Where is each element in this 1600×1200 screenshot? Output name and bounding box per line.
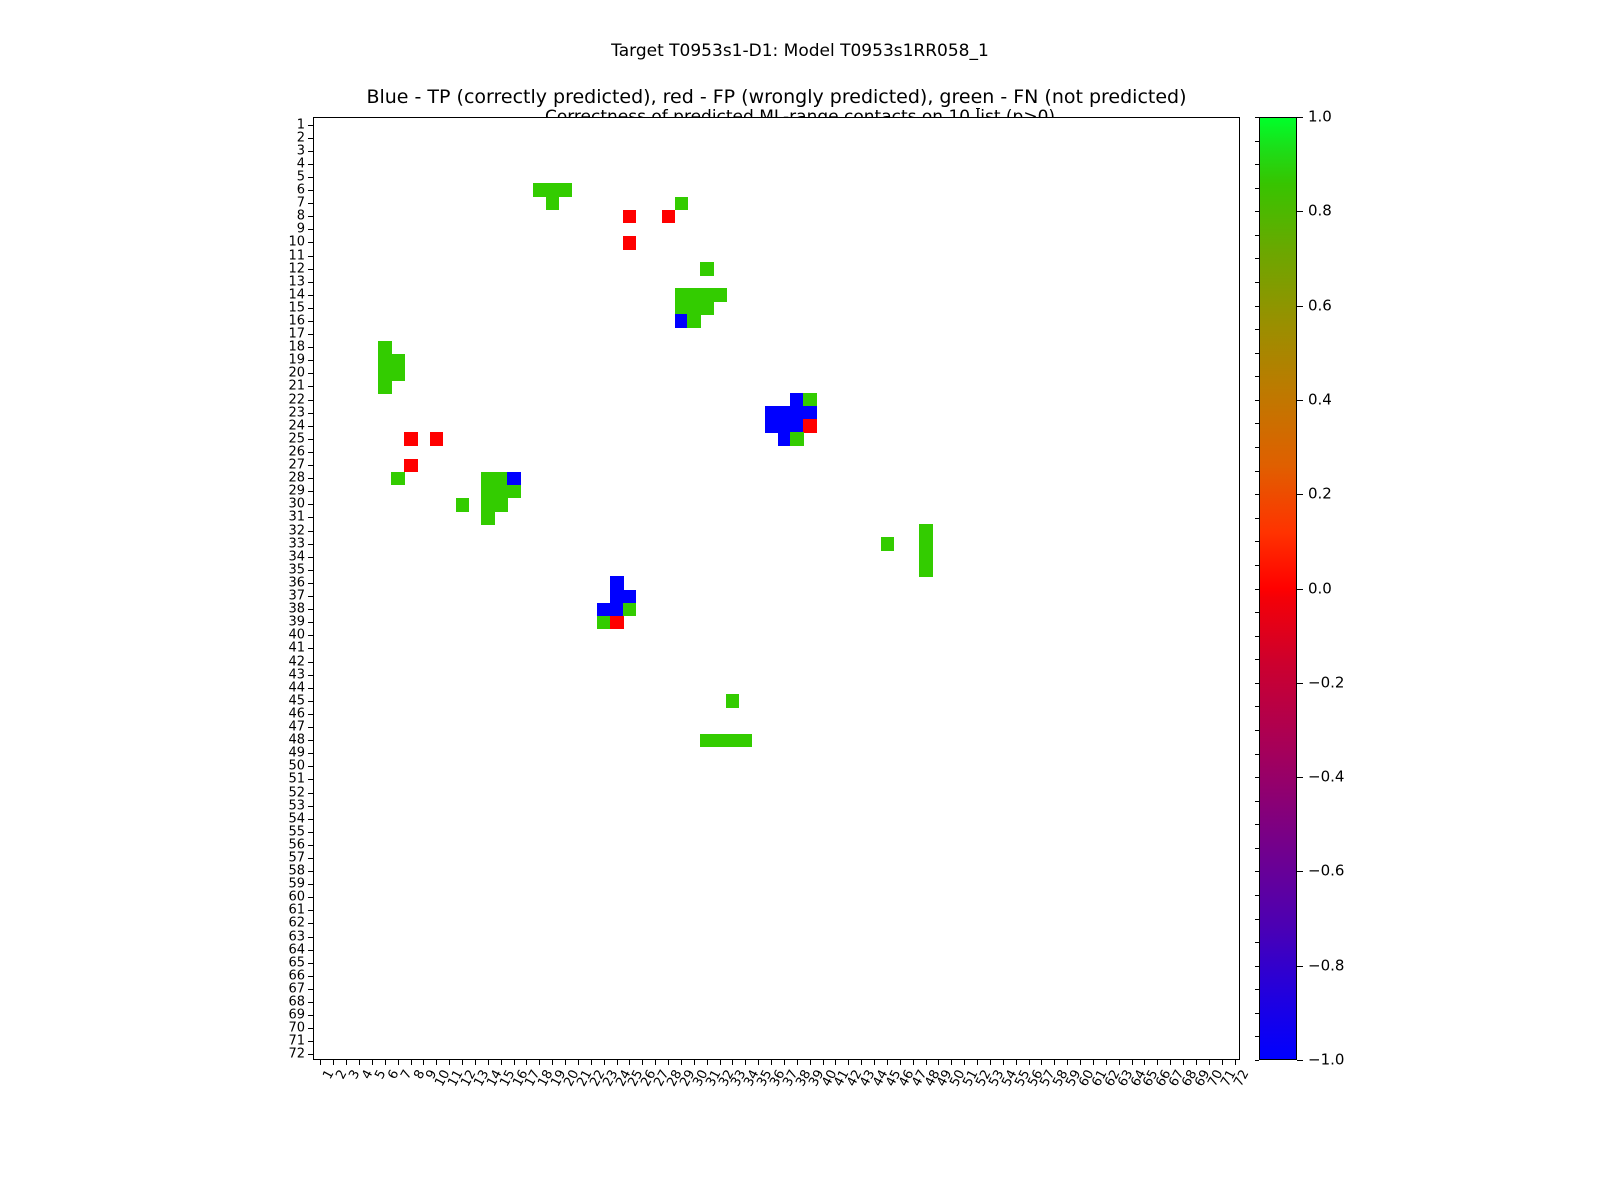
x-tick-mark: [423, 1059, 424, 1065]
colorbar-tick-mark: [1297, 306, 1303, 307]
contact-cell: [778, 432, 791, 446]
x-tick-mark: [951, 1059, 952, 1065]
x-tick-mark: [668, 1059, 669, 1065]
colorbar-minor-tick: [1255, 589, 1259, 590]
colorbar-minor-tick: [1255, 306, 1259, 307]
colorbar-tick-mark: [1297, 966, 1303, 967]
y-tick-label: 27: [288, 459, 305, 472]
contact-cell-layer: [314, 118, 1239, 1059]
colorbar-minor-tick: [1255, 1060, 1259, 1061]
colorbar-tick-mark: [1297, 683, 1303, 684]
colorbar-minor-tick: [1255, 565, 1259, 566]
y-tick-mark: [308, 793, 314, 794]
y-tick-mark: [308, 1054, 314, 1055]
y-tick-label: 36: [288, 576, 305, 589]
contact-cell: [919, 563, 932, 577]
x-tick-mark: [1119, 1059, 1120, 1065]
contact-cell: [765, 406, 778, 420]
y-tick-label: 32: [288, 524, 305, 537]
y-tick-mark: [308, 648, 314, 649]
y-tick-mark: [308, 295, 314, 296]
y-tick-mark: [308, 766, 314, 767]
contact-cell: [881, 537, 894, 551]
colorbar-minor-tick: [1255, 188, 1259, 189]
y-tick-label: 14: [288, 288, 305, 301]
y-tick-label: 18: [288, 341, 305, 354]
x-tick-mark: [694, 1059, 695, 1065]
y-tick-label: 26: [288, 445, 305, 458]
y-tick-label: 68: [288, 996, 305, 1009]
contact-cell: [456, 498, 469, 512]
colorbar-tick-mark: [1297, 494, 1303, 495]
y-tick-label: 55: [288, 825, 305, 838]
colorbar-minor-tick: [1255, 683, 1259, 684]
contact-cell: [919, 537, 932, 551]
y-tick-mark: [308, 779, 314, 780]
y-tick-label: 49: [288, 747, 305, 760]
y-tick-mark: [308, 923, 314, 924]
contact-cell: [739, 734, 752, 748]
y-tick-mark: [308, 269, 314, 270]
contact-cell: [559, 183, 572, 197]
x-tick-mark: [372, 1059, 373, 1065]
colorbar-tick-label: 1.0: [1308, 110, 1332, 125]
x-tick-mark: [720, 1059, 721, 1065]
contact-cell: [507, 472, 520, 486]
colorbar-minor-tick: [1255, 423, 1259, 424]
contact-cell: [597, 616, 610, 630]
y-tick-label: 57: [288, 851, 305, 864]
y-tick-label: 4: [297, 157, 305, 170]
contact-cell: [610, 603, 623, 617]
y-tick-label: 56: [288, 838, 305, 851]
x-tick-mark: [591, 1059, 592, 1065]
x-tick-mark: [732, 1059, 733, 1065]
x-tick-mark: [1132, 1059, 1133, 1065]
colorbar-minor-tick: [1255, 235, 1259, 236]
y-tick-mark: [308, 1015, 314, 1016]
y-tick-label: 35: [288, 563, 305, 576]
x-tick-mark: [514, 1059, 515, 1065]
x-tick-mark: [333, 1059, 334, 1065]
colorbar-minor-tick: [1255, 1013, 1259, 1014]
colorbar-minor-tick: [1255, 659, 1259, 660]
y-tick-mark: [308, 1002, 314, 1003]
y-tick-mark: [308, 675, 314, 676]
y-tick-label: 60: [288, 891, 305, 904]
contact-cell: [713, 734, 726, 748]
y-tick-label: 11: [288, 249, 305, 262]
y-tick-mark: [308, 504, 314, 505]
colorbar-tick-mark: [1297, 589, 1303, 590]
y-tick-label: 46: [288, 707, 305, 720]
contact-cell: [378, 380, 391, 394]
y-tick-mark: [308, 321, 314, 322]
x-tick-mark: [1093, 1059, 1094, 1065]
y-tick-mark: [308, 347, 314, 348]
x-tick-mark: [552, 1059, 553, 1065]
x-tick-mark: [758, 1059, 759, 1065]
x-tick-mark: [501, 1059, 502, 1065]
y-tick-label: 62: [288, 917, 305, 930]
y-tick-label: 24: [288, 419, 305, 432]
y-tick-mark: [308, 583, 314, 584]
contact-cell: [610, 616, 623, 630]
y-tick-mark: [308, 229, 314, 230]
colorbar-minor-tick: [1255, 376, 1259, 377]
y-tick-mark: [308, 242, 314, 243]
x-tick-mark: [488, 1059, 489, 1065]
x-tick-mark: [823, 1059, 824, 1065]
y-tick-mark: [308, 334, 314, 335]
contact-cell: [803, 419, 816, 433]
contact-cell: [597, 603, 610, 617]
y-tick-mark: [308, 701, 314, 702]
y-tick-mark: [308, 989, 314, 990]
contact-map-plot[interactable]: 1234567891011121314151617181920212223242…: [313, 117, 1240, 1060]
x-tick-mark: [900, 1059, 901, 1065]
y-tick-label: 3: [297, 144, 305, 157]
y-tick-label: 10: [288, 236, 305, 249]
y-tick-label: 33: [288, 537, 305, 550]
colorbar-minor-tick: [1255, 282, 1259, 283]
y-tick-mark: [308, 937, 314, 938]
x-tick-mark: [1235, 1059, 1236, 1065]
y-tick-label: 2: [297, 131, 305, 144]
colorbar-tick-label: −0.4: [1308, 770, 1344, 785]
y-tick-mark: [308, 871, 314, 872]
y-tick-mark: [308, 963, 314, 964]
colorbar-tick-label: 0.2: [1308, 487, 1332, 502]
x-tick-mark: [848, 1059, 849, 1065]
x-tick-mark: [681, 1059, 682, 1065]
y-tick-label: 6: [297, 184, 305, 197]
colorbar-minor-tick: [1255, 141, 1259, 142]
y-tick-mark: [308, 216, 314, 217]
x-tick-mark: [926, 1059, 927, 1065]
contact-cell: [687, 314, 700, 328]
x-tick-mark: [1183, 1059, 1184, 1065]
y-tick-mark: [308, 662, 314, 663]
colorbar-tick-label: 0.6: [1308, 298, 1332, 313]
colorbar-minor-tick: [1255, 117, 1259, 118]
x-tick-mark: [604, 1059, 605, 1065]
y-tick-mark: [308, 203, 314, 204]
x-tick-mark: [629, 1059, 630, 1065]
x-tick-mark: [436, 1059, 437, 1065]
x-tick-mark: [655, 1059, 656, 1065]
colorbar-minor-tick: [1255, 895, 1259, 896]
colorbar-tick-label: 0.0: [1308, 581, 1332, 596]
x-tick-mark: [539, 1059, 540, 1065]
x-tick-mark: [1067, 1059, 1068, 1065]
suptitle-line-1: Target T0953s1-D1: Model T0953s1RR058_1: [611, 41, 989, 61]
colorbar-tick-mark: [1297, 117, 1303, 118]
y-tick-label: 1: [297, 118, 305, 131]
y-tick-mark: [308, 1028, 314, 1029]
y-tick-label: 15: [288, 301, 305, 314]
x-tick-mark: [707, 1059, 708, 1065]
y-tick-label: 30: [288, 498, 305, 511]
y-tick-label: 69: [288, 1009, 305, 1022]
colorbar-minor-tick: [1255, 801, 1259, 802]
y-tick-label: 37: [288, 590, 305, 603]
y-tick-label: 19: [288, 354, 305, 367]
y-tick-label: 8: [297, 210, 305, 223]
y-tick-label: 17: [288, 328, 305, 341]
contact-cell: [726, 694, 739, 708]
y-tick-label: 13: [288, 275, 305, 288]
contact-cell: [700, 262, 713, 276]
colorbar-tick-label: 0.4: [1308, 392, 1332, 407]
contact-cell: [765, 419, 778, 433]
contact-cell: [790, 419, 803, 433]
contact-cell: [623, 603, 636, 617]
contact-cell: [610, 590, 623, 604]
y-tick-label: 70: [288, 1022, 305, 1035]
colorbar-minor-tick: [1255, 329, 1259, 330]
colorbar-tick-mark: [1297, 871, 1303, 872]
colorbar-minor-tick: [1255, 447, 1259, 448]
y-tick-mark: [308, 282, 314, 283]
colorbar-minor-tick: [1255, 258, 1259, 259]
contact-cell: [790, 393, 803, 407]
x-tick-mark: [617, 1059, 618, 1065]
colorbar-gradient: [1259, 117, 1297, 1060]
colorbar-minor-tick: [1255, 211, 1259, 212]
y-tick-label: 34: [288, 550, 305, 563]
x-tick-mark: [449, 1059, 450, 1065]
x-tick-mark: [462, 1059, 463, 1065]
y-tick-label: 29: [288, 485, 305, 498]
colorbar-tick-label: −0.8: [1308, 958, 1344, 973]
y-tick-mark: [308, 950, 314, 951]
x-tick-mark: [887, 1059, 888, 1065]
y-tick-label: 48: [288, 734, 305, 747]
contact-cell: [713, 288, 726, 302]
y-tick-mark: [308, 544, 314, 545]
y-tick-mark: [308, 360, 314, 361]
contact-cell: [790, 432, 803, 446]
y-tick-label: 28: [288, 472, 305, 485]
y-tick-mark: [308, 557, 314, 558]
contact-cell: [790, 406, 803, 420]
x-tick-mark: [1222, 1059, 1223, 1065]
colorbar-tick-label: −1.0: [1308, 1053, 1344, 1068]
y-tick-label: 50: [288, 760, 305, 773]
y-tick-mark: [308, 819, 314, 820]
colorbar-minor-tick: [1255, 706, 1259, 707]
y-tick-mark: [308, 439, 314, 440]
colorbar-tick-label: −0.2: [1308, 675, 1344, 690]
y-tick-mark: [308, 596, 314, 597]
contact-cell: [546, 197, 559, 211]
colorbar-minor-tick: [1255, 1036, 1259, 1037]
x-tick-mark: [810, 1059, 811, 1065]
y-tick-label: 9: [297, 223, 305, 236]
y-tick-mark: [308, 177, 314, 178]
colorbar-tick-mark: [1297, 777, 1303, 778]
x-tick-mark: [398, 1059, 399, 1065]
colorbar-minor-tick: [1255, 942, 1259, 943]
y-tick-label: 65: [288, 956, 305, 969]
contact-cell: [662, 210, 675, 224]
y-tick-mark: [308, 1041, 314, 1042]
x-tick-mark: [578, 1059, 579, 1065]
contact-cell: [623, 236, 636, 250]
colorbar-tick-label: −0.6: [1308, 864, 1344, 879]
contact-cell: [430, 432, 443, 446]
colorbar-minor-tick: [1255, 400, 1259, 401]
y-tick-mark: [308, 740, 314, 741]
contact-cell: [546, 183, 559, 197]
contact-cell: [378, 354, 391, 368]
x-tick-mark: [1209, 1059, 1210, 1065]
y-tick-label: 42: [288, 655, 305, 668]
y-tick-label: 61: [288, 904, 305, 917]
y-tick-label: 43: [288, 668, 305, 681]
x-tick-mark: [784, 1059, 785, 1065]
contact-cell: [919, 524, 932, 538]
contact-cell: [494, 485, 507, 499]
x-tick-mark: [1041, 1059, 1042, 1065]
y-tick-mark: [308, 373, 314, 374]
colorbar-minor-tick: [1255, 518, 1259, 519]
contact-cell: [507, 485, 520, 499]
x-tick-mark: [835, 1059, 836, 1065]
x-tick-mark: [359, 1059, 360, 1065]
contact-cell: [675, 197, 688, 211]
contact-cell: [687, 301, 700, 315]
y-tick-mark: [308, 845, 314, 846]
contact-cell: [675, 314, 688, 328]
x-tick-mark: [1106, 1059, 1107, 1065]
colorbar-minor-tick: [1255, 541, 1259, 542]
x-tick-mark: [745, 1059, 746, 1065]
y-tick-label: 21: [288, 380, 305, 393]
y-tick-mark: [308, 753, 314, 754]
contact-cell: [700, 288, 713, 302]
x-tick-mark: [1003, 1059, 1004, 1065]
y-tick-mark: [308, 531, 314, 532]
y-tick-label: 41: [288, 642, 305, 655]
contact-cell: [623, 590, 636, 604]
colorbar-minor-tick: [1255, 636, 1259, 637]
y-tick-label: 38: [288, 603, 305, 616]
colorbar[interactable]: −1.0−0.8−0.6−0.4−0.20.00.20.40.60.81.0: [1259, 117, 1297, 1060]
x-tick-mark: [771, 1059, 772, 1065]
x-tick-mark: [385, 1059, 386, 1065]
y-tick-mark: [308, 976, 314, 977]
y-tick-mark: [308, 491, 314, 492]
contact-cell: [481, 472, 494, 486]
y-tick-mark: [308, 688, 314, 689]
x-tick-mark: [1080, 1059, 1081, 1065]
contact-cell: [391, 354, 404, 368]
contact-cell: [700, 734, 713, 748]
y-tick-label: 40: [288, 629, 305, 642]
colorbar-tick-mark: [1297, 1060, 1303, 1061]
contact-cell: [919, 550, 932, 564]
contact-cell: [481, 498, 494, 512]
y-tick-label: 39: [288, 616, 305, 629]
contact-cell: [378, 341, 391, 355]
contact-cell: [404, 459, 417, 473]
y-tick-mark: [308, 910, 314, 911]
y-tick-mark: [308, 609, 314, 610]
contact-cell: [533, 183, 546, 197]
x-tick-mark: [1029, 1059, 1030, 1065]
y-tick-label: 59: [288, 878, 305, 891]
contact-cell: [778, 406, 791, 420]
contact-cell: [700, 301, 713, 315]
x-tick-mark: [1054, 1059, 1055, 1065]
y-tick-mark: [308, 151, 314, 152]
y-tick-label: 5: [297, 170, 305, 183]
x-tick-mark: [964, 1059, 965, 1065]
y-tick-label: 45: [288, 694, 305, 707]
y-tick-label: 22: [288, 393, 305, 406]
x-tick-mark: [565, 1059, 566, 1065]
colorbar-minor-tick: [1255, 353, 1259, 354]
contact-cell: [803, 393, 816, 407]
y-tick-label: 12: [288, 262, 305, 275]
colorbar-minor-tick: [1255, 966, 1259, 967]
contact-cell: [675, 288, 688, 302]
colorbar-tick-mark: [1297, 400, 1303, 401]
x-tick-mark: [1144, 1059, 1145, 1065]
colorbar-minor-tick: [1255, 494, 1259, 495]
y-tick-label: 7: [297, 197, 305, 210]
axes-title: Blue - TP (correctly predicted), red - F…: [313, 86, 1240, 108]
x-tick-mark: [861, 1059, 862, 1065]
y-tick-mark: [308, 884, 314, 885]
y-tick-mark: [308, 714, 314, 715]
y-tick-label: 71: [288, 1035, 305, 1048]
x-tick-mark: [1170, 1059, 1171, 1065]
y-tick-mark: [308, 426, 314, 427]
contact-cell: [610, 576, 623, 590]
contact-cell: [623, 210, 636, 224]
contact-cell: [404, 432, 417, 446]
y-tick-label: 51: [288, 773, 305, 786]
y-tick-mark: [308, 806, 314, 807]
contact-cell: [803, 406, 816, 420]
x-tick-mark: [977, 1059, 978, 1065]
y-tick-label: 20: [288, 367, 305, 380]
contact-cell: [481, 485, 494, 499]
contact-cell: [481, 511, 494, 525]
contact-cell: [494, 498, 507, 512]
x-tick-mark: [797, 1059, 798, 1065]
y-tick-label: 54: [288, 812, 305, 825]
colorbar-minor-tick: [1255, 471, 1259, 472]
y-tick-label: 66: [288, 969, 305, 982]
y-tick-mark: [308, 256, 314, 257]
x-tick-mark: [411, 1059, 412, 1065]
y-tick-mark: [308, 897, 314, 898]
y-tick-label: 44: [288, 681, 305, 694]
y-tick-mark: [308, 308, 314, 309]
y-tick-label: 67: [288, 982, 305, 995]
x-tick-mark: [642, 1059, 643, 1065]
x-tick-mark: [320, 1059, 321, 1065]
x-tick-mark: [526, 1059, 527, 1065]
y-tick-mark: [308, 635, 314, 636]
y-tick-mark: [308, 125, 314, 126]
colorbar-minor-tick: [1255, 754, 1259, 755]
y-tick-mark: [308, 478, 314, 479]
